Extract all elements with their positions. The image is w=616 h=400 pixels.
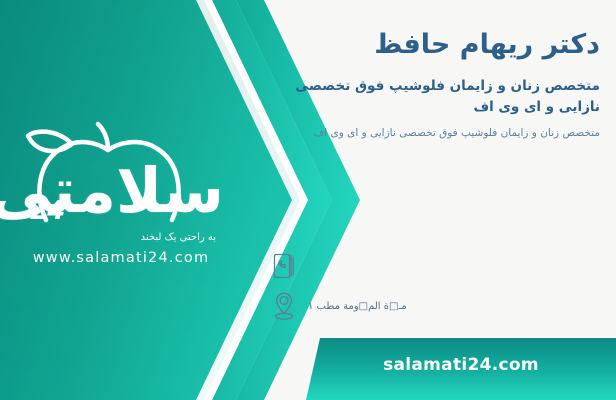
doctor-specialty-secondary: متخصص زنان و زایمان فلوشیپ فوق تخصصی ناز… bbox=[270, 124, 600, 142]
doctor-info-block: دکتر ریهام حافظ متخصص زنان و زایمان فلوش… bbox=[270, 28, 600, 142]
location-pin-icon bbox=[270, 289, 298, 323]
footer-url-text: salamati24.com bbox=[306, 355, 616, 375]
contact-row-phone[interactable] bbox=[270, 246, 600, 286]
doctor-profile-card: سلامتی 24 به راحتی یک لبخند www.salamati… bbox=[0, 0, 616, 400]
contact-address-label: مـ□ة الم□ومة مطب ١ bbox=[308, 301, 407, 312]
contact-list: مـ□ة الم□ومة مطب ١ bbox=[270, 246, 600, 326]
contact-row-address[interactable]: مـ□ة الم□ومة مطب ١ bbox=[270, 286, 600, 326]
doctor-name: دکتر ریهام حافظ bbox=[270, 28, 600, 62]
footer-url-bar[interactable]: salamati24.com bbox=[306, 338, 616, 400]
phone-book-icon bbox=[270, 249, 298, 283]
doctor-specialty-primary: متخصص زنان و زایمان فلوشیپ فوق تخصصی ناز… bbox=[270, 76, 600, 118]
